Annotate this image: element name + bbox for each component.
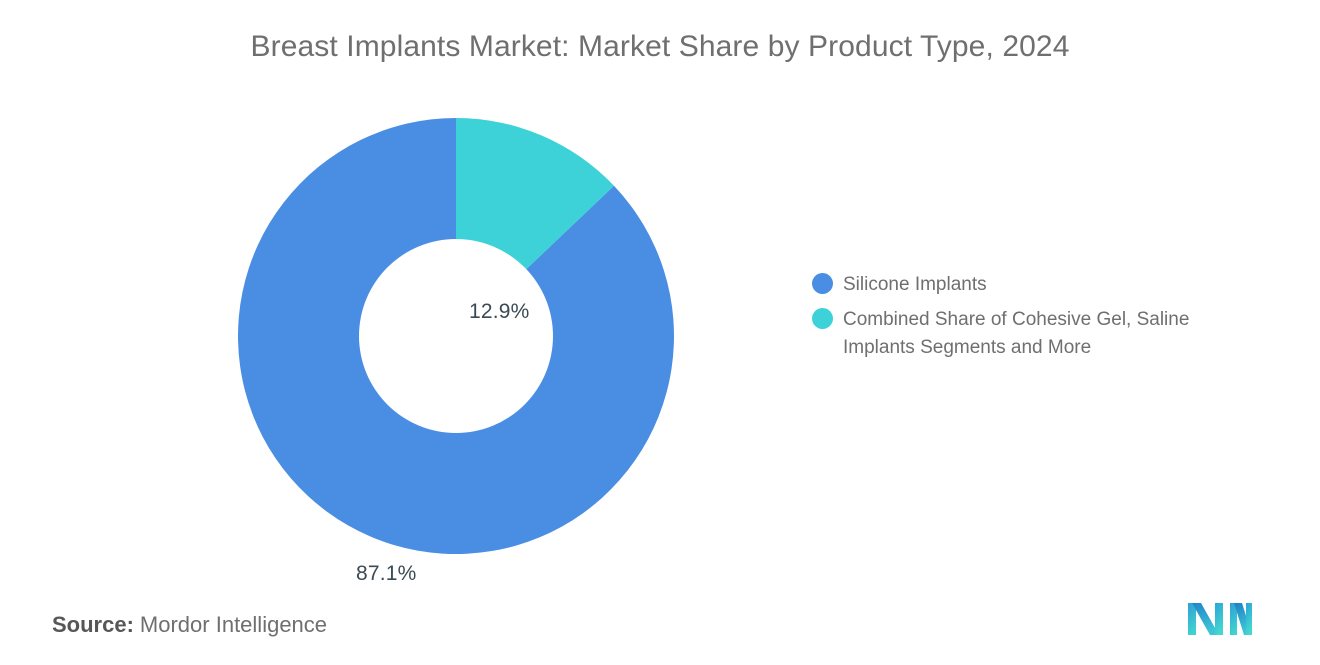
slice-label-silicone-implants: 87.1% [356,562,417,586]
slice-label-combined-share: 12.9% [469,300,530,324]
legend-label-silicone-implants: Silicone Implants [843,271,987,299]
donut-chart-svg [238,118,674,554]
donut-hole [359,239,553,433]
legend-swatch-icon-silicone-implants [812,273,833,294]
legend-item-combined-share[interactable]: Combined Share of Cohesive Gel, Saline I… [812,306,1272,362]
donut-chart: 12.9% 87.1% [238,118,674,554]
chart-title: Breast Implants Market: Market Share by … [0,30,1320,64]
source-label: Source: [52,612,134,637]
chart-legend: Silicone Implants Combined Share of Cohe… [812,271,1272,369]
legend-item-silicone-implants[interactable]: Silicone Implants [812,271,1272,299]
legend-label-combined-share: Combined Share of Cohesive Gel, Saline I… [843,306,1261,362]
source-line: Source:Mordor Intelligence [52,612,327,638]
source-value: Mordor Intelligence [140,612,327,637]
legend-swatch-icon-combined-share [812,308,833,329]
mordor-intelligence-logo-icon [1186,599,1254,639]
